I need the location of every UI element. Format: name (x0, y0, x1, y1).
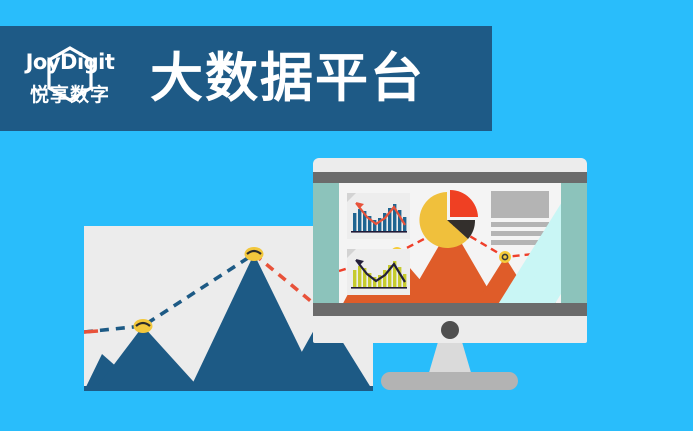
screen-side-panel-left (313, 183, 339, 311)
image-placeholder (491, 191, 549, 218)
logo-subtitle: 悦享数字 (30, 86, 110, 105)
screen-side-panel-right (561, 183, 587, 311)
bar-chart-card-blue (347, 193, 410, 239)
monitor-illustration (313, 158, 587, 343)
pie-chart (417, 189, 479, 251)
logo-wordmark: JoyDigit (26, 52, 115, 73)
header-banner: JoyDigit 悦享数字 大数据平台 (0, 26, 492, 131)
power-button-icon[interactable] (441, 321, 459, 339)
data-point-marker (134, 319, 153, 333)
mountain-shape (94, 326, 202, 391)
trend-line-red-start (84, 331, 98, 332)
text-line-placeholder (491, 222, 549, 227)
brand-logo: JoyDigit 悦享数字 (14, 52, 126, 105)
data-point-marker (245, 247, 264, 261)
pie-slice-red (450, 190, 478, 217)
folded-corner-icon (347, 193, 356, 202)
text-placeholder-block (491, 191, 549, 245)
data-point-marker (499, 251, 511, 263)
poster-canvas: JoyDigit 悦享数字 大数据平台 (0, 0, 693, 431)
folded-corner-icon (347, 249, 356, 258)
text-line-placeholder (491, 240, 549, 245)
monitor-screen (313, 183, 587, 311)
monitor-bottom-bar (313, 303, 587, 316)
bar-chart-card-olive (347, 249, 410, 295)
olive-bar-chart-svg (347, 249, 410, 295)
dashboard-content (339, 183, 561, 311)
blue-bar-chart-svg (347, 193, 410, 239)
page-title: 大数据平台 (150, 52, 425, 105)
text-line-placeholder (491, 231, 549, 236)
monitor-top-bar (313, 172, 587, 183)
monitor-stand-base (381, 372, 518, 390)
